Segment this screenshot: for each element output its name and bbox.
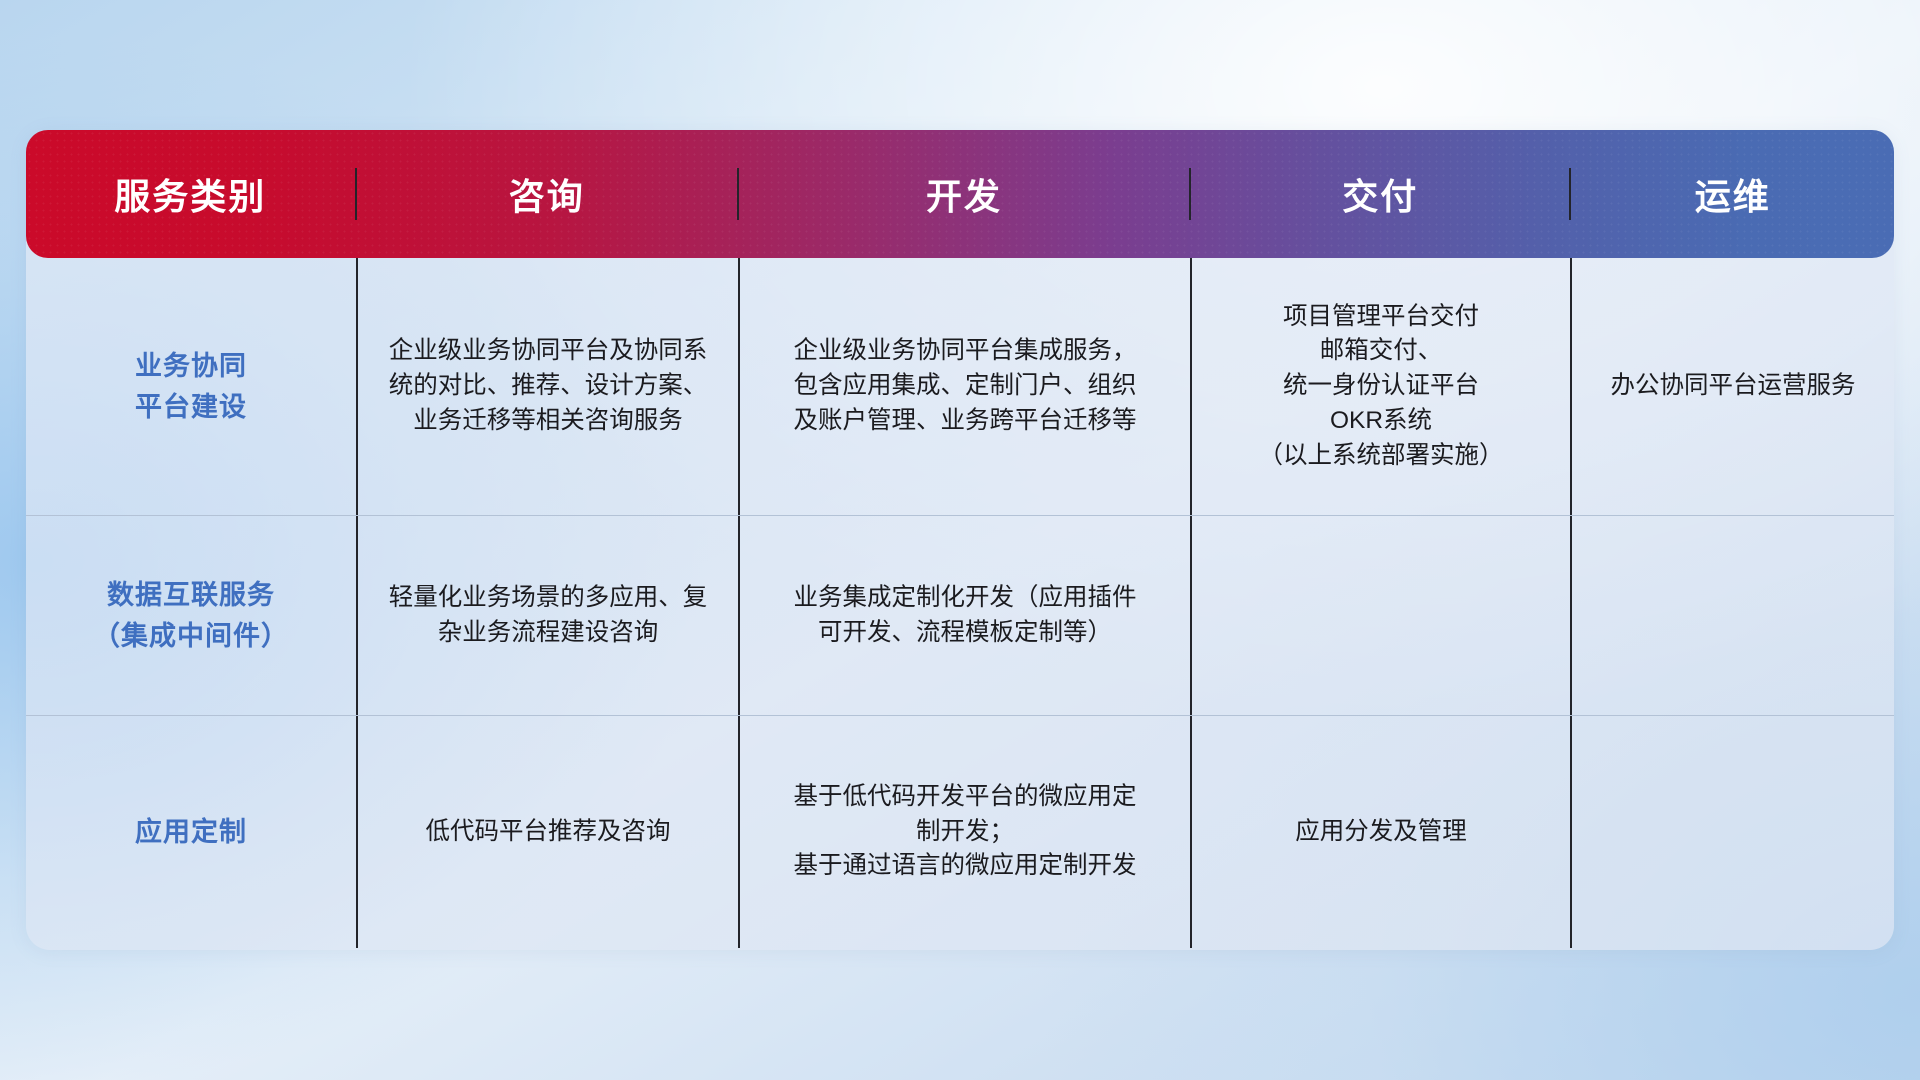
cell-r2-delivery: 应用分发及管理 <box>1190 716 1570 948</box>
header-cell-operations: 运维 <box>1569 168 1894 220</box>
header-cell-delivery: 交付 <box>1189 168 1569 220</box>
cell-r1-consulting: 轻量化业务场景的多应用、复 杂业务流程建设咨询 <box>356 516 738 715</box>
header-cell-development: 开发 <box>737 168 1189 220</box>
table-header-row: 服务类别 咨询 开发 交付 运维 <box>26 130 1894 258</box>
cell-r0-operations: 办公协同平台运营服务 <box>1570 258 1894 515</box>
cell-r2-consulting: 低代码平台推荐及咨询 <box>356 716 738 948</box>
cell-r1-delivery <box>1190 516 1570 715</box>
row-label-business-collaboration: 业务协同 平台建设 <box>26 258 356 515</box>
cell-r2-operations <box>1570 716 1894 948</box>
table-body: 业务协同 平台建设 企业级业务协同平台及协同系 统的对比、推荐、设计方案、 业务… <box>26 258 1894 948</box>
table-row: 数据互联服务 （集成中间件） 轻量化业务场景的多应用、复 杂业务流程建设咨询 业… <box>26 516 1894 716</box>
header-cell-consulting: 咨询 <box>355 168 737 220</box>
cell-r1-development: 业务集成定制化开发（应用插件 可开发、流程模板定制等） <box>738 516 1190 715</box>
row-label-data-interconnect: 数据互联服务 （集成中间件） <box>26 516 356 715</box>
row-label-app-customization: 应用定制 <box>26 716 356 948</box>
cell-r0-development: 企业级业务协同平台集成服务， 包含应用集成、定制门户、组织 及账户管理、业务跨平… <box>738 258 1190 515</box>
table-row: 应用定制 低代码平台推荐及咨询 基于低代码开发平台的微应用定 制开发； 基于通过… <box>26 716 1894 948</box>
cell-r1-operations <box>1570 516 1894 715</box>
cell-r0-consulting: 企业级业务协同平台及协同系 统的对比、推荐、设计方案、 业务迁移等相关咨询服务 <box>356 258 738 515</box>
cell-r2-development: 基于低代码开发平台的微应用定 制开发； 基于通过语言的微应用定制开发 <box>738 716 1190 948</box>
table-row: 业务协同 平台建设 企业级业务协同平台及协同系 统的对比、推荐、设计方案、 业务… <box>26 258 1894 516</box>
cell-r0-delivery: 项目管理平台交付 邮箱交付、 统一身份认证平台 OKR系统 （以上系统部署实施） <box>1190 258 1570 515</box>
header-cell-service-category: 服务类别 <box>26 168 355 220</box>
